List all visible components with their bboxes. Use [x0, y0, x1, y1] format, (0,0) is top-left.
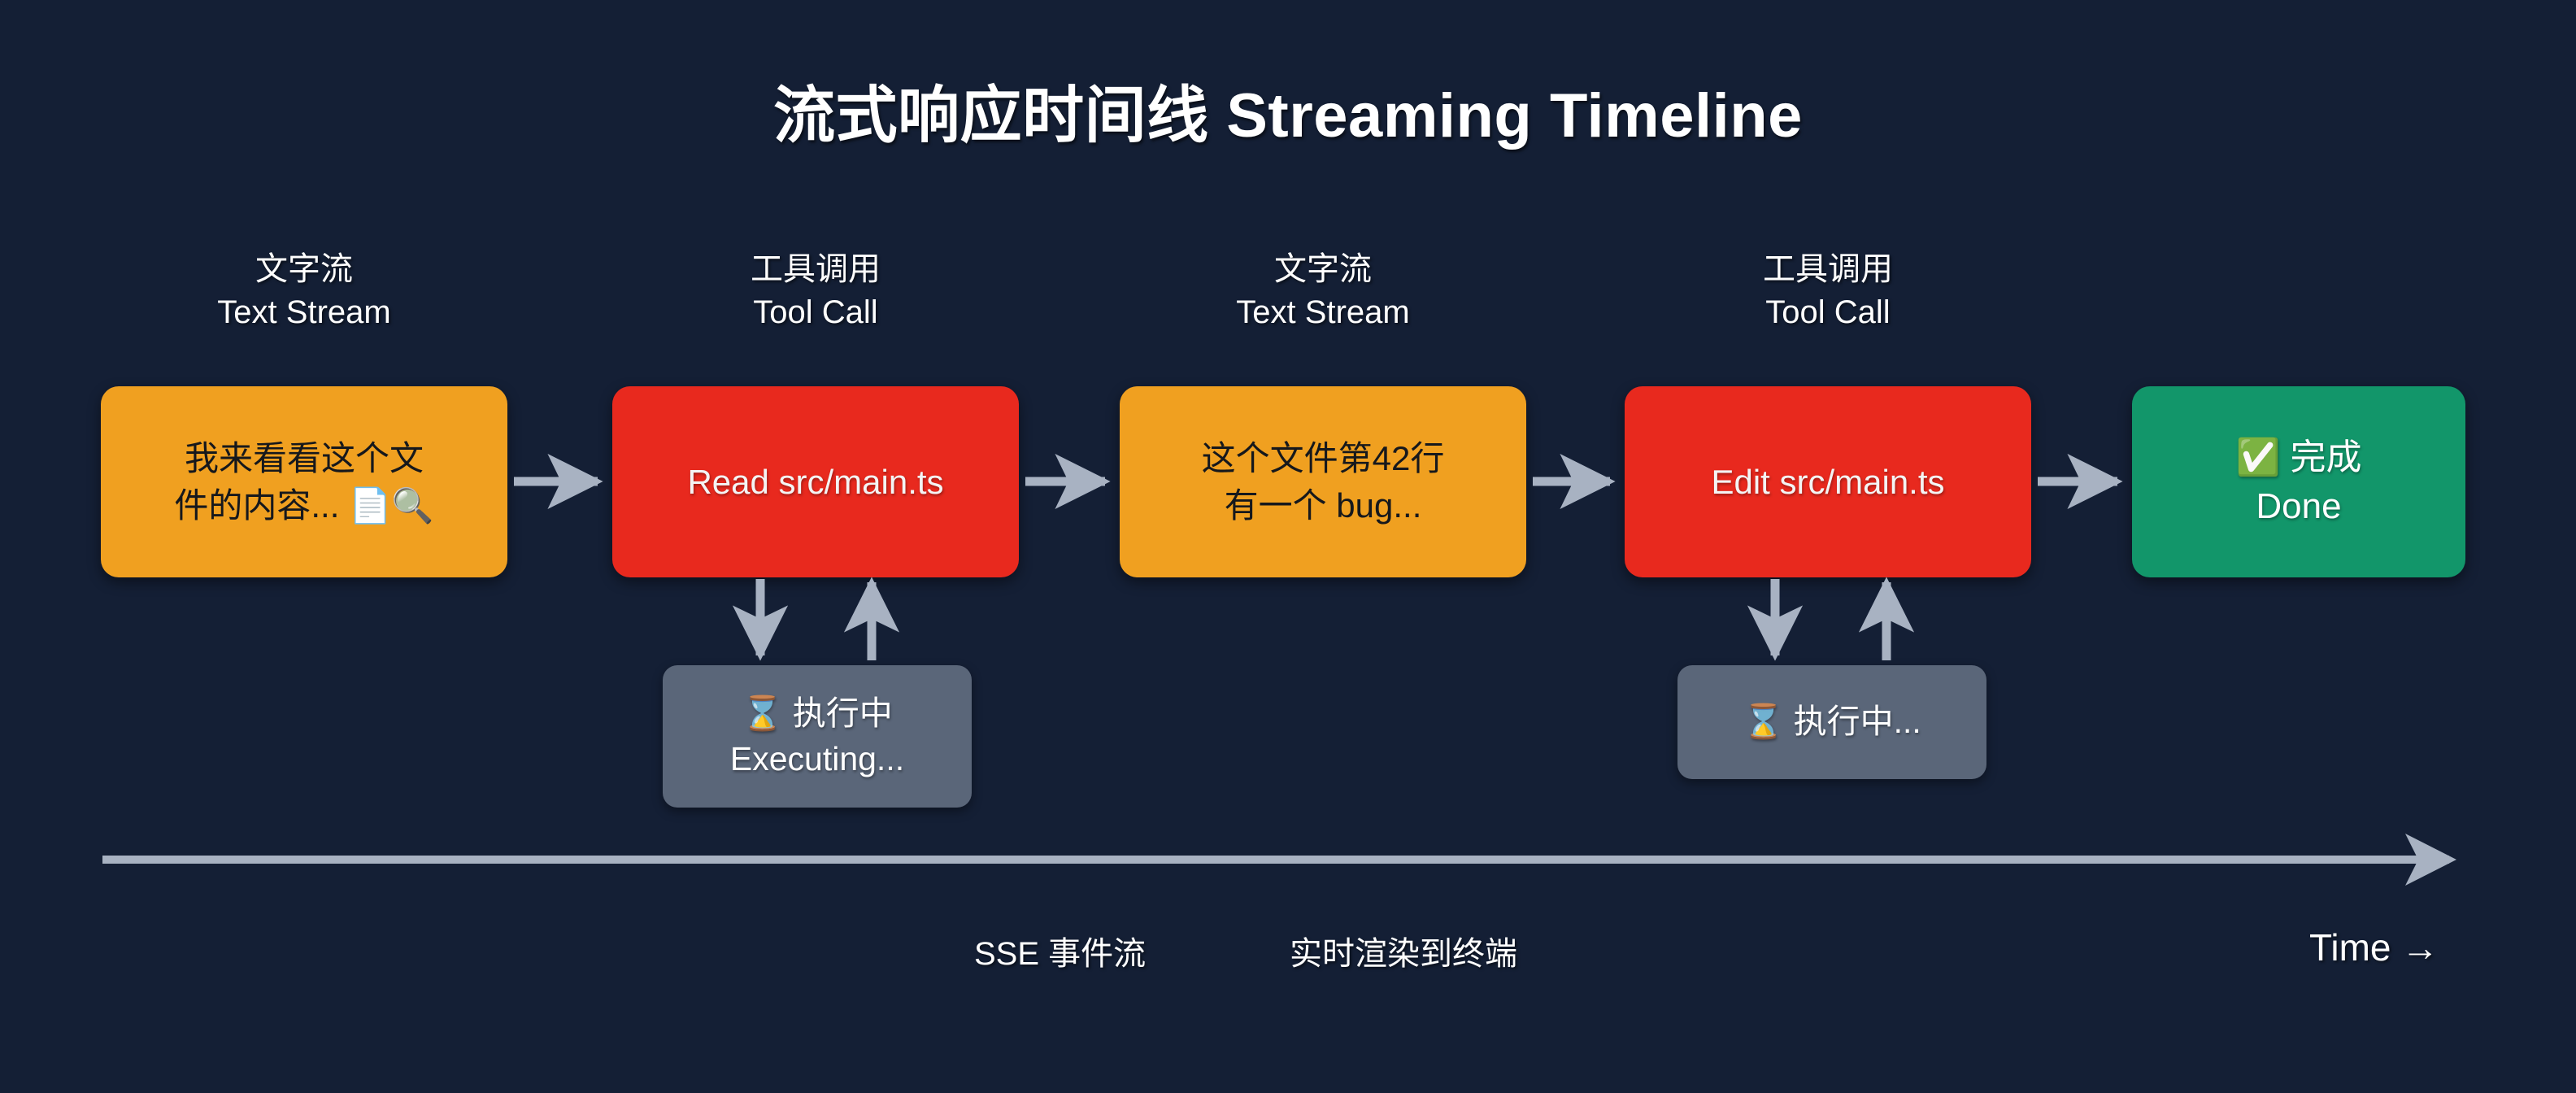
- stage-label-4-cn: 工具调用: [1625, 248, 2031, 291]
- stage-label-4-en: Tool Call: [1625, 291, 2031, 334]
- timeline-caption-1: SSE 事件流: [974, 927, 1146, 974]
- stage-label-2-en: Tool Call: [612, 291, 1019, 334]
- node-done-text: ✅ 完成 Done: [2235, 433, 2361, 531]
- stage-label-1-en: Text Stream: [101, 291, 507, 334]
- stage-label-1: 文字流 Text Stream: [101, 248, 507, 334]
- stage-label-3: 文字流 Text Stream: [1120, 248, 1526, 334]
- stage-label-3-en: Text Stream: [1120, 291, 1526, 334]
- stage-label-1-cn: 文字流: [101, 248, 507, 291]
- node-tool-call-edit[interactable]: Edit src/main.ts: [1625, 386, 2031, 577]
- status-box-executing-2-text: ⌛ 执行中...: [1743, 699, 1921, 745]
- time-axis-label: Time →: [2309, 925, 2439, 969]
- node-tool-call-edit-text: Edit src/main.ts: [1711, 459, 1944, 505]
- timeline-caption-2: 实时渲染到终端: [1290, 927, 1517, 974]
- node-tool-call-read-text: Read src/main.ts: [687, 459, 943, 505]
- node-done[interactable]: ✅ 完成 Done: [2132, 386, 2465, 577]
- status-box-executing-1[interactable]: ⌛ 执行中 Executing...: [663, 665, 972, 808]
- stage-label-4: 工具调用 Tool Call: [1625, 248, 2031, 334]
- status-box-executing-2[interactable]: ⌛ 执行中...: [1677, 665, 1986, 779]
- stage-label-2-cn: 工具调用: [612, 248, 1019, 291]
- node-tool-call-read[interactable]: Read src/main.ts: [612, 386, 1019, 577]
- node-text-stream-2[interactable]: 这个文件第42行 有一个 bug...: [1120, 386, 1526, 577]
- node-text-stream-1-text: 我来看看这个文 件的内容... 📄🔍: [174, 435, 433, 528]
- node-text-stream-1[interactable]: 我来看看这个文 件的内容... 📄🔍: [101, 386, 507, 577]
- node-text-stream-2-text: 这个文件第42行 有一个 bug...: [1202, 435, 1445, 528]
- page-title: 流式响应时间线 Streaming Timeline: [0, 65, 2576, 155]
- stage-label-2: 工具调用 Tool Call: [612, 248, 1019, 334]
- stage-label-3-cn: 文字流: [1120, 248, 1526, 291]
- status-box-executing-1-text: ⌛ 执行中 Executing...: [730, 691, 904, 782]
